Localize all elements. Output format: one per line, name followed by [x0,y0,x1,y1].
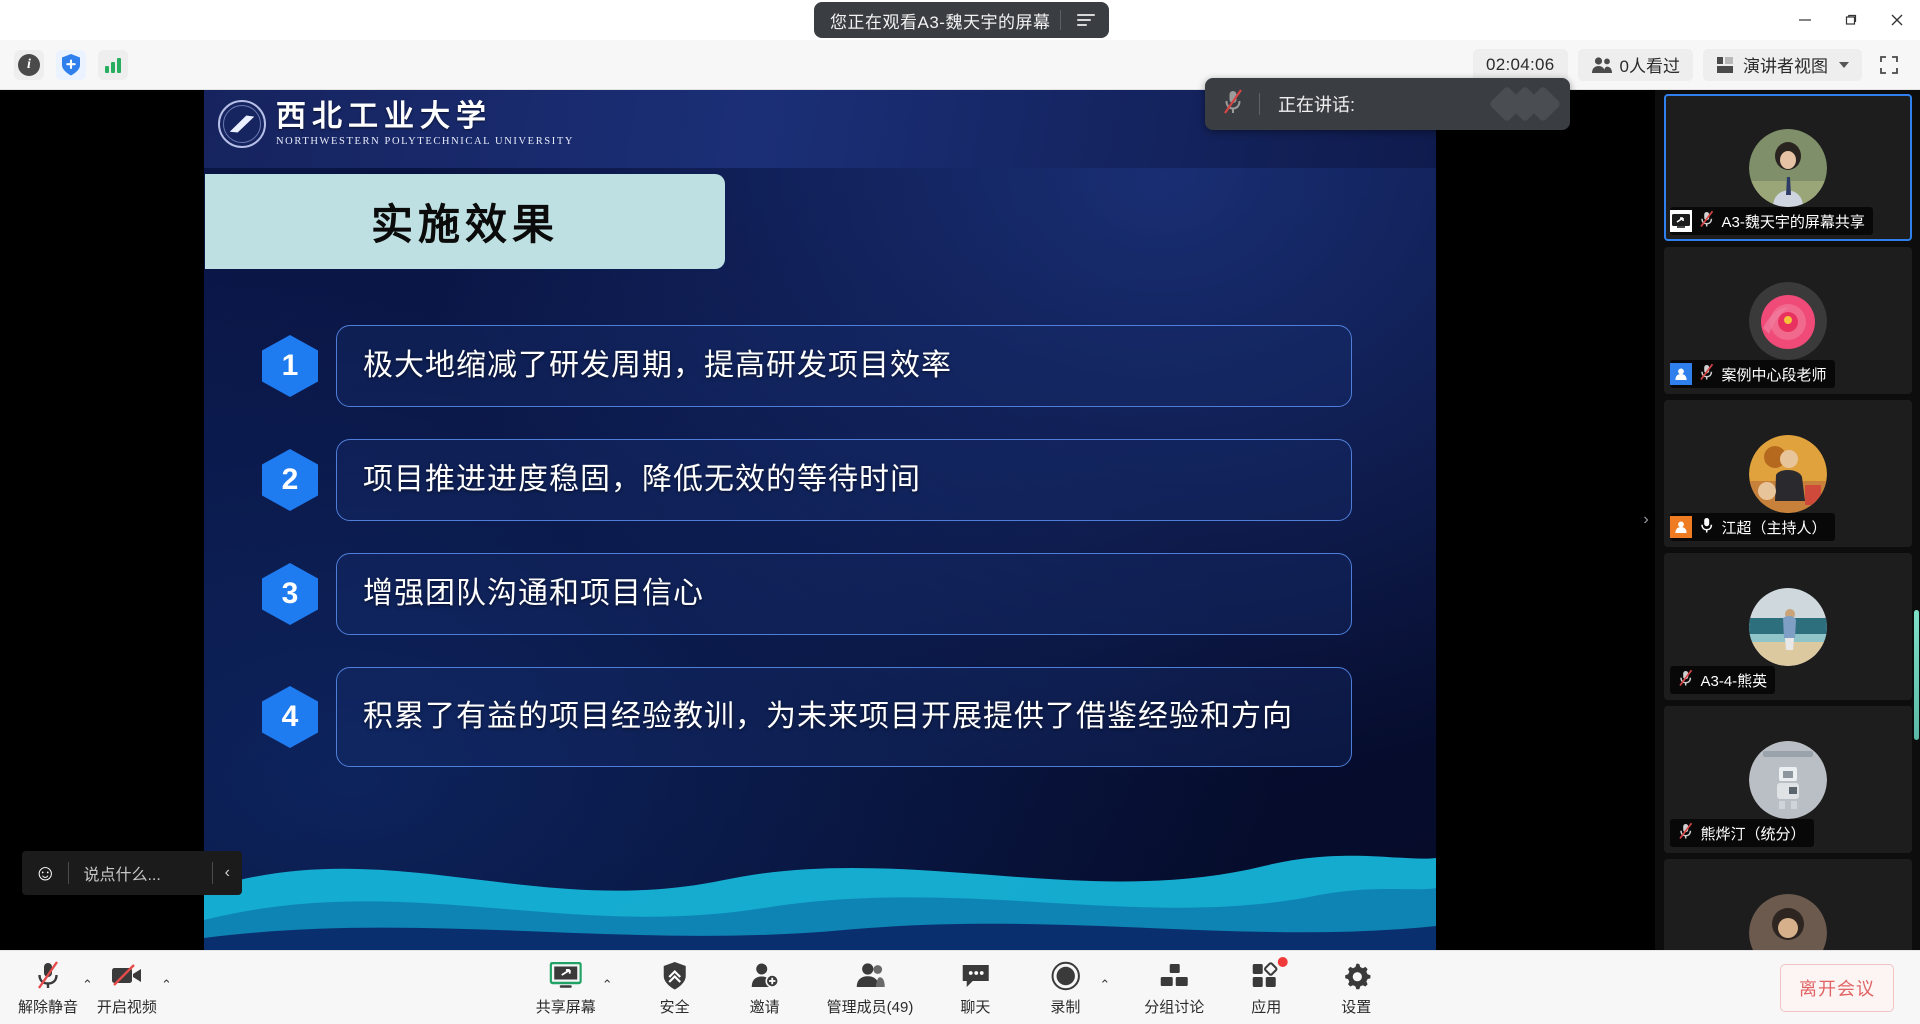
slide-point-2: 2 项目推进进度稳固，降低无效的等待时间 [262,439,1352,521]
avatar [1749,435,1827,513]
slide-point-3: 3 增强团队沟通和项目信心 [262,553,1352,635]
participant-label: 熊烨汀（统分） [1670,819,1814,847]
meeting-info-icon[interactable]: i [14,50,44,80]
point-number-badge: 4 [262,686,318,748]
security-icon [662,959,688,993]
point-number-badge: 1 [262,335,318,397]
emoji-icon[interactable]: ☺ [22,860,68,886]
participant-name: A3-4-熊英 [1701,670,1768,691]
unmute-button[interactable]: 解除静音 [18,957,78,1019]
manage-participants-icon [854,959,886,993]
slide-title: 实施效果 [371,191,559,252]
chat-icon [960,959,990,993]
participant-tile[interactable]: A3-4-熊英 [1664,553,1912,700]
video-options-chevron-icon[interactable]: ⌃ [161,977,172,1019]
participant-name: 江超（主持人） [1722,517,1827,538]
manage-participants-button[interactable]: 管理成员(49) [827,957,914,1019]
window-title-bar: 您正在观看A3-魏天宇的屏幕 [0,0,1920,40]
mic-on-icon [1699,516,1715,538]
fullscreen-button[interactable] [1872,49,1906,81]
toolbar-left-group: i [0,50,128,80]
record-icon [1050,959,1080,993]
meeting-timer: 02:04:06 [1473,49,1568,81]
participant-label: 江超（主持人） [1670,513,1835,541]
university-logo: 西北工业大学 NORTHWESTERN POLYTECHNICAL UNIVER… [218,100,574,148]
share-options-chevron-icon[interactable]: ⌃ [602,977,613,1019]
chat-label: 聊天 [960,996,990,1017]
university-name-cn: 西北工业大学 [276,102,574,132]
participants-filmstrip[interactable]: A3-魏天宇的屏幕共享 [1655,90,1920,950]
avatar [1749,894,1827,951]
toolbar-right-group: 02:04:06 0人看过 演讲者视图 [1473,49,1920,81]
point-text: 项目推进进度稳固，降低无效的等待时间 [336,439,1352,521]
avatar [1749,282,1827,360]
slide-wave-decoration [204,770,1436,950]
invite-icon [750,959,780,993]
view-mode-chip[interactable]: 演讲者视图 [1703,49,1862,81]
minimize-button[interactable] [1782,0,1828,40]
breakout-rooms-icon [1158,959,1190,993]
record-button[interactable]: 录制 [1037,957,1093,1019]
panel-scrollbar[interactable] [1914,610,1919,740]
share-screen-label: 共享屏幕 [536,996,596,1017]
shared-screen-stage[interactable]: 西北工业大学 NORTHWESTERN POLYTECHNICAL UNIVER… [0,90,1655,950]
participant-name: 熊烨汀（统分） [1701,823,1806,844]
mic-muted-icon [1670,822,1694,844]
security-button[interactable]: 安全 [647,957,703,1019]
chat-input-placeholder[interactable]: 说点什么... [69,861,211,885]
mic-options-chevron-icon[interactable]: ⌃ [82,977,93,1019]
avatar [1749,741,1827,819]
meeting-top-toolbar: i 02:04:06 0人看过 演讲者视图 [0,40,1920,90]
video-off-icon [110,959,144,993]
speaking-label: 正在讲话: [1260,91,1355,117]
close-button[interactable] [1874,0,1920,40]
start-video-button[interactable]: 开启视频 [97,957,157,1019]
share-screen-icon [550,959,582,993]
participant-label: A3-魏天宇的屏幕共享 [1670,207,1873,235]
security-shield-icon[interactable] [56,50,86,80]
mic-muted-icon [1699,210,1715,232]
viewing-title-pill[interactable]: 您正在观看A3-魏天宇的屏幕 [814,2,1109,38]
people-icon [1591,56,1613,74]
invite-button[interactable]: 邀请 [737,957,793,1019]
user-icon [1670,516,1692,538]
record-label: 录制 [1050,996,1080,1017]
leave-meeting-button[interactable]: 离开会议 [1780,964,1894,1012]
speaking-indicator-overlay: 正在讲话: [1205,78,1570,130]
point-text: 增强团队沟通和项目信心 [336,553,1352,635]
presentation-slide: 西北工业大学 NORTHWESTERN POLYTECHNICAL UNIVER… [204,90,1436,950]
chevron-down-icon[interactable] [1839,62,1849,68]
fullscreen-icon [1879,55,1899,75]
point-text: 极大地缩减了研发周期，提高研发项目效率 [336,325,1352,407]
participant-tile[interactable]: 江超（主持人） [1664,400,1912,547]
unmute-label: 解除静音 [18,996,78,1017]
bottom-left-group: 解除静音 ⌃ 开启视频 ⌃ [0,957,172,1019]
breakout-rooms-label: 分组讨论 [1144,996,1204,1017]
settings-gear-icon [1341,959,1371,993]
participant-tile[interactable]: A3-魏天宇的屏幕共享 [1664,94,1912,241]
start-video-label: 开启视频 [97,996,157,1017]
speaking-decoration [1502,91,1570,117]
participant-tile[interactable]: 案例中心段老师 [1664,247,1912,394]
university-name-en: NORTHWESTERN POLYTECHNICAL UNIVERSITY [276,136,574,147]
chevron-right-icon[interactable]: › [1637,503,1655,537]
layout-icon [1716,55,1736,75]
mic-muted-icon [33,959,63,993]
mic-muted-icon [1205,88,1259,121]
settings-label: 设置 [1341,996,1371,1017]
bottom-right-group: 离开会议 [1780,964,1920,1012]
screen-share-icon [1670,210,1692,232]
apps-label: 应用 [1251,996,1281,1017]
slide-points-list: 1 极大地缩减了研发周期，提高研发项目效率 2 项目推进进度稳固，降低无效的等待… [262,325,1352,799]
participant-name: 案例中心段老师 [1722,364,1827,385]
apps-notification-badge [1277,957,1287,967]
point-number-badge: 2 [262,449,318,511]
npu-emblem-icon [218,100,266,148]
viewers-count-label: 0人看过 [1620,52,1680,77]
security-label: 安全 [660,996,690,1017]
slide-point-4: 4 积累了有益的项目经验教训，为未来项目开展提供了借鉴经验和方向 [262,667,1352,767]
zoom-meeting-window: 您正在观看A3-魏天宇的屏幕 i 02 [0,0,1920,1024]
participant-label: A3-4-熊英 [1670,666,1776,694]
breakout-rooms-button[interactable]: 分组讨论 [1144,957,1204,1019]
divider [1060,10,1061,30]
quick-chat-bar[interactable]: ☺ 说点什么... ‹ [22,851,242,895]
record-options-chevron-icon[interactable]: ⌃ [1099,977,1110,1019]
manage-participants-label: 管理成员(49) [827,996,914,1017]
slide-title-box: 实施效果 [205,174,725,269]
settings-button[interactable]: 设置 [1328,957,1384,1019]
apps-button[interactable]: 应用 [1238,957,1294,1019]
avatar [1749,588,1827,666]
chevron-left-icon[interactable]: ‹ [213,864,242,882]
mic-muted-icon [1699,363,1715,385]
user-icon [1670,363,1692,385]
avatar [1749,129,1827,207]
slide-point-1: 1 极大地缩减了研发周期，提高研发项目效率 [262,325,1352,407]
window-controls [1782,0,1920,40]
point-text: 积累了有益的项目经验教训，为未来项目开展提供了借鉴经验和方向 [336,667,1352,767]
mic-muted-icon [1670,669,1694,691]
viewers-count-chip[interactable]: 0人看过 [1578,49,1693,81]
point-number-badge: 3 [262,563,318,625]
restore-button[interactable] [1828,0,1874,40]
hamburger-menu-icon[interactable] [1071,10,1101,30]
invite-label: 邀请 [750,996,780,1017]
participant-tile[interactable] [1664,859,1912,950]
view-mode-label: 演讲者视图 [1743,52,1828,77]
bottom-center-group: 共享屏幕 ⌃ 安全 邀请 管理成员(49) [536,957,1385,1019]
meeting-bottom-toolbar: 解除静音 ⌃ 开启视频 ⌃ 共享屏幕 ⌃ [0,950,1920,1024]
participant-tile[interactable]: 熊烨汀（统分） [1664,706,1912,853]
participant-label: 案例中心段老师 [1670,360,1835,388]
network-stats-icon[interactable] [98,50,128,80]
participant-name: A3-魏天宇的屏幕共享 [1722,211,1865,232]
apps-icon [1251,959,1281,993]
share-screen-button[interactable]: 共享屏幕 [536,957,596,1019]
window-title: 您正在观看A3-魏天宇的屏幕 [830,8,1050,33]
chat-button[interactable]: 聊天 [947,957,1003,1019]
